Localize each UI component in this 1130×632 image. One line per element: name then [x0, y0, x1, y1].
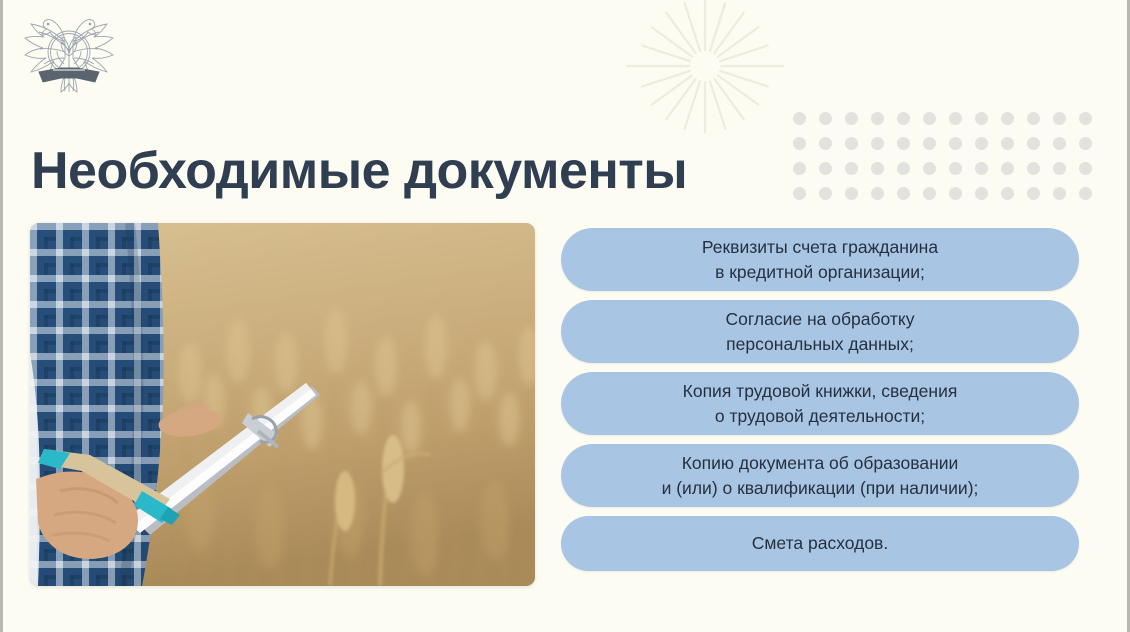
starburst-rays-icon — [620, 0, 790, 146]
list-item[interactable]: Реквизиты счета гражданина в кредитной о… — [561, 228, 1079, 291]
list-item-label: Копию документа об образовании и (или) о… — [662, 451, 979, 501]
page-title: Необходимые документы — [31, 144, 687, 199]
list-item-label: Реквизиты счета гражданина в кредитной о… — [702, 235, 938, 285]
list-item[interactable]: Смета расходов. — [561, 516, 1079, 571]
list-item[interactable]: Согласие на обработку персональных данны… — [561, 300, 1079, 363]
list-item-label: Согласие на обработку персональных данны… — [726, 307, 915, 357]
dot-grid — [793, 112, 1105, 196]
farmer-clipboard-photo — [30, 223, 535, 586]
presentation-slide: Необходимые документы — [0, 0, 1130, 632]
list-item[interactable]: Копия трудовой книжки, сведения о трудов… — [561, 372, 1079, 435]
list-item-label: Смета расходов. — [752, 531, 888, 556]
list-item-label: Копия трудовой книжки, сведения о трудов… — [683, 379, 958, 429]
documents-list: Реквизиты счета гражданина в кредитной о… — [561, 228, 1079, 580]
list-item[interactable]: Копию документа об образовании и (или) о… — [561, 444, 1079, 507]
double-headed-eagle-emblem — [17, 6, 121, 106]
